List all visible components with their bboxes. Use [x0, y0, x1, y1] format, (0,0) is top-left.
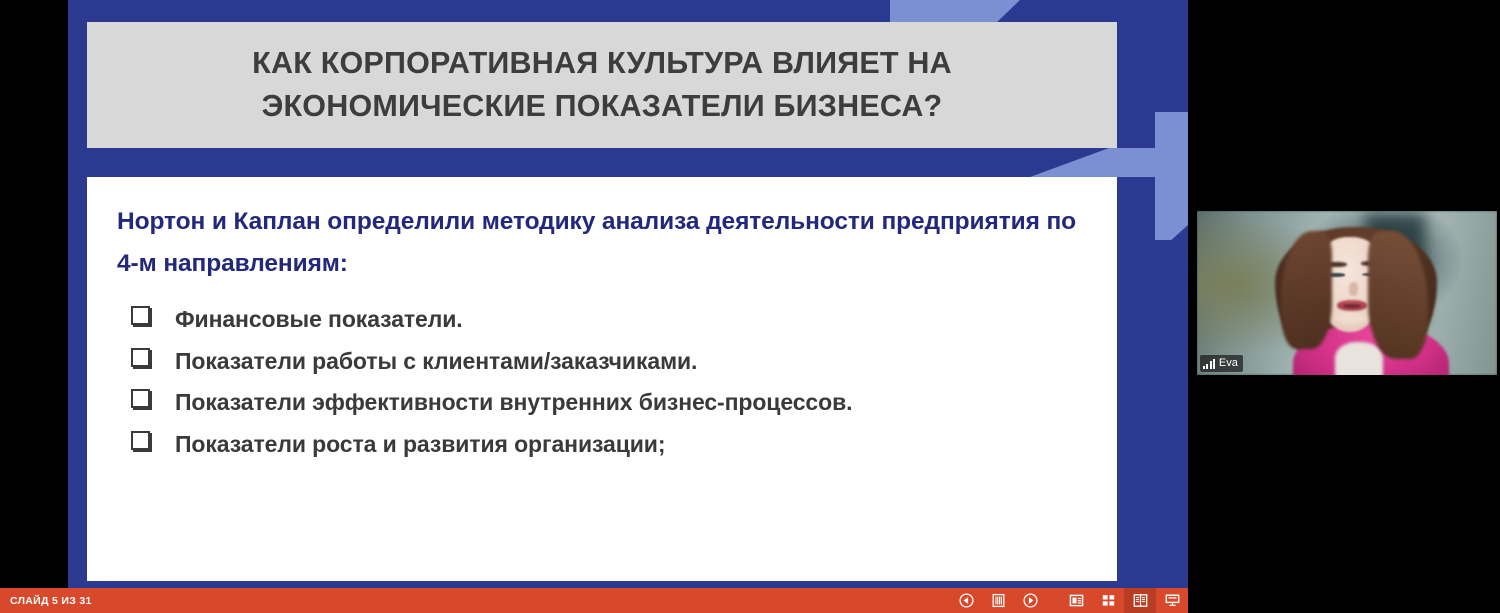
list-item-label: Показатели эффективности внутренних бизн…	[175, 388, 852, 416]
intro-paragraph: Нортон и Каплан определили методику анал…	[117, 201, 1087, 285]
list-item-label: Финансовые показатели.	[175, 305, 463, 333]
participant-name: Eva	[1219, 358, 1238, 369]
video-person-mouth	[1343, 304, 1361, 308]
slide-title: КАК КОРПОРАТИВНАЯ КУЛЬТУРА ВЛИЯЕТ НА ЭКО…	[111, 42, 1093, 129]
bullet-list: Финансовые показатели. Показатели работы…	[117, 305, 1087, 458]
reading-view-icon[interactable]	[1124, 588, 1156, 613]
decorative-wedge	[1030, 148, 1188, 177]
list-item-label: Показатели работы с клиентами/заказчикам…	[175, 347, 697, 375]
empty-square-bullet-icon	[131, 431, 150, 450]
video-person-nose	[1349, 282, 1359, 297]
grid-view-icon[interactable]	[1092, 588, 1124, 613]
slide-layout-icon[interactable]	[1060, 588, 1092, 613]
signal-strength-icon	[1203, 359, 1215, 369]
list-item: Финансовые показатели.	[131, 305, 1087, 333]
empty-square-bullet-icon	[131, 389, 150, 408]
video-participant-tile[interactable]: Eva	[1197, 211, 1497, 375]
empty-square-bullet-icon	[131, 306, 150, 325]
video-participant-label: Eva	[1200, 355, 1243, 372]
presentation-screen-icon[interactable]	[1156, 588, 1188, 613]
empty-square-bullet-icon	[131, 348, 150, 367]
list-item: Показатели работы с клиентами/заказчикам…	[131, 347, 1087, 375]
video-person-chin	[1335, 313, 1368, 324]
slide-canvas[interactable]: КАК КОРПОРАТИВНАЯ КУЛЬТУРА ВЛИЯЕТ НА ЭКО…	[68, 0, 1188, 588]
speaker-notes-icon[interactable]	[982, 588, 1014, 613]
list-item: Показатели эффективности внутренних бизн…	[131, 388, 1087, 416]
list-item-label: Показатели роста и развития организации;	[175, 430, 665, 458]
previous-slide-icon[interactable]	[950, 588, 982, 613]
video-person-collar	[1335, 342, 1383, 375]
list-item: Показатели роста и развития организации;	[131, 430, 1087, 458]
slide-title-box: КАК КОРПОРАТИВНАЯ КУЛЬТУРА ВЛИЯЕТ НА ЭКО…	[87, 22, 1117, 148]
slide-content-box: Нортон и Каплан определили методику анал…	[87, 177, 1117, 581]
presentation-toolbar	[950, 588, 1188, 613]
slide-counter: СЛАЙД 5 ИЗ 31	[0, 595, 92, 607]
toolbar-spacer	[1046, 588, 1060, 613]
next-slide-icon[interactable]	[1014, 588, 1046, 613]
screen: КАК КОРПОРАТИВНАЯ КУЛЬТУРА ВЛИЯЕТ НА ЭКО…	[0, 0, 1500, 613]
presentation-status-bar: СЛАЙД 5 ИЗ 31	[0, 588, 1188, 613]
